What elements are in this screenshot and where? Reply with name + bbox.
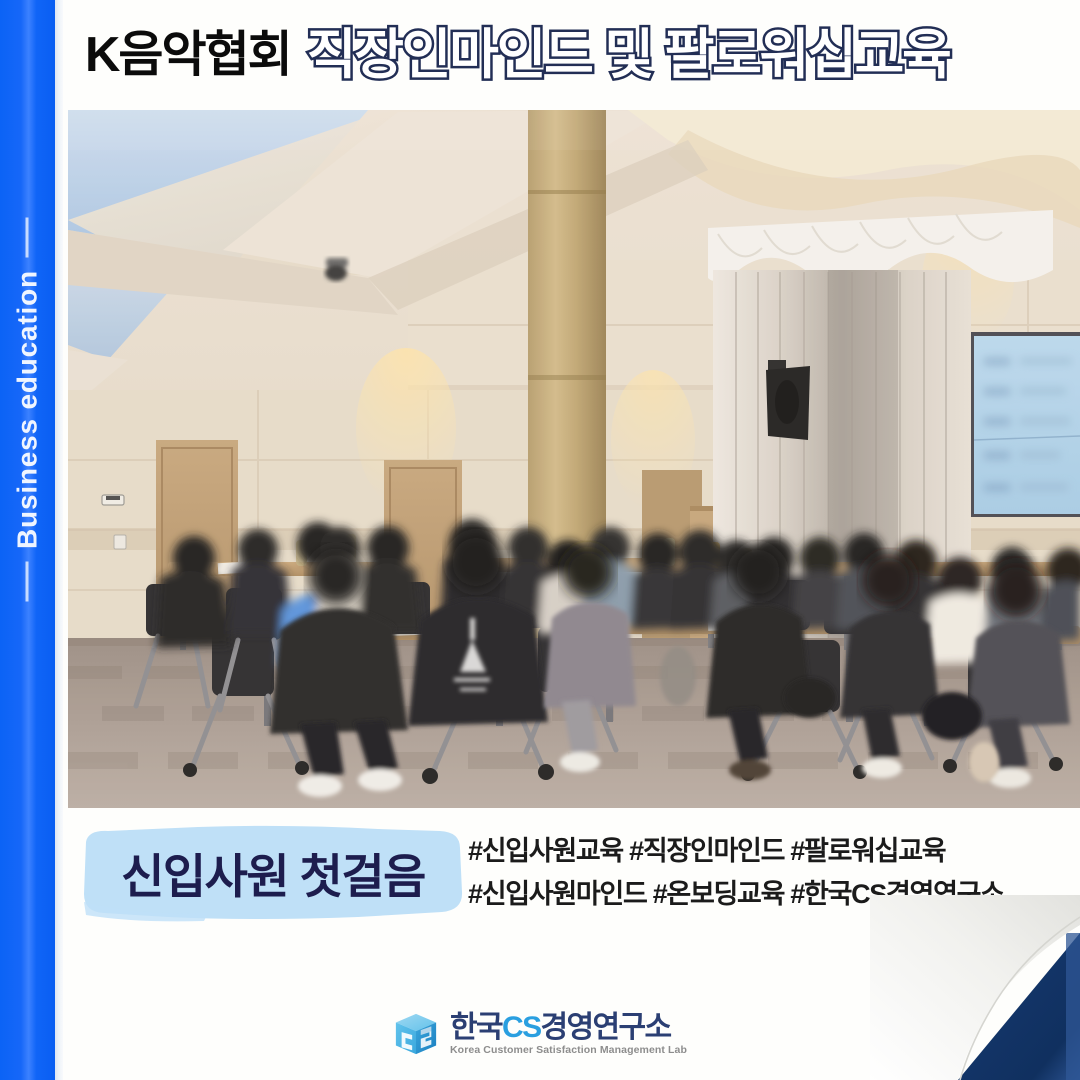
photo-illustration bbox=[68, 110, 1080, 808]
left-rail-edge-highlight bbox=[55, 0, 63, 1080]
logo-ko-part3: 경영연구소 bbox=[540, 1013, 670, 1043]
logo-english-name: Korea Customer Satisfaction Management L… bbox=[450, 1044, 687, 1056]
promo-card: Business education K음악협회 직장인마인드 및 팔로워십교육 bbox=[0, 0, 1080, 1080]
logo-wordmark: 한국 CS 경영연구소 Korea Customer Satisfaction … bbox=[450, 1013, 687, 1056]
page-curl-decoration bbox=[870, 895, 1080, 1080]
headline-row: K음악협회 직장인마인드 및 팔로워십교육 bbox=[63, 0, 1080, 110]
logo-ko-part1: 한국 bbox=[450, 1013, 502, 1043]
headline-organization: K음악협회 bbox=[85, 31, 291, 80]
cs-cube-logo-icon bbox=[393, 1011, 439, 1057]
logo-korean-name: 한국 CS 경영연구소 bbox=[450, 1013, 670, 1043]
page-curl-shape bbox=[870, 895, 1080, 1080]
left-accent-rail bbox=[0, 0, 55, 1080]
headline-topic: 직장인마인드 및 팔로워십교육 bbox=[307, 28, 950, 82]
logo-ko-part2: CS bbox=[502, 1013, 540, 1043]
training-room-photo bbox=[68, 110, 1080, 808]
hashtag-line-1: #신입사원교육 #직장인마인드 #팔로워십교육 bbox=[468, 830, 1068, 873]
highlight-text: 신입사원 첫걸음 bbox=[78, 822, 468, 922]
highlight-badge: 신입사원 첫걸음 bbox=[78, 822, 468, 922]
